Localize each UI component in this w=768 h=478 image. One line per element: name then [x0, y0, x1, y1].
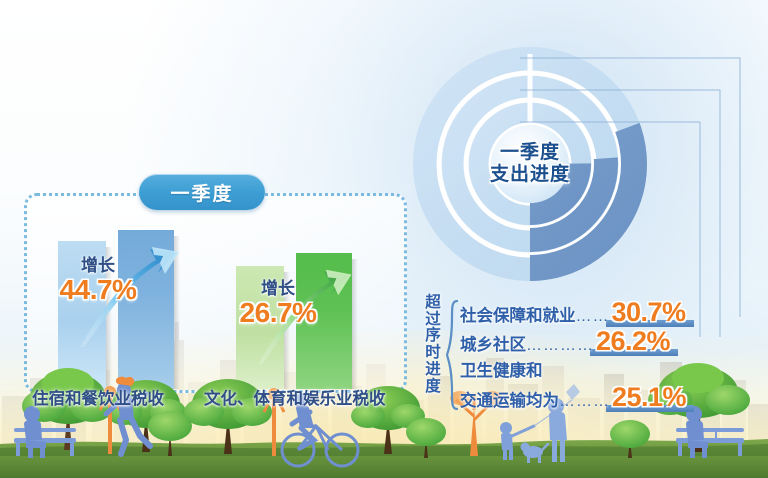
legend-row-label: 城乡社区 — [460, 331, 526, 355]
legend-row-label: 社会保障和就业 — [460, 302, 576, 326]
growth-word: 增长 — [224, 280, 332, 298]
quarter-badge: 一季度 — [139, 174, 265, 210]
legend-row-dots: ………… — [526, 337, 594, 355]
tree — [406, 418, 446, 458]
legend-row-value: 30.7% — [610, 297, 688, 328]
bar-caption-lodging: 住宿和餐饮业税收 — [32, 385, 164, 409]
growth-percent: 44.7% — [44, 275, 152, 304]
growth-label-green: 增长 26.7% — [224, 280, 332, 327]
vt-char-0: 超 — [420, 295, 446, 312]
legend-row: 交通运输均为 ……… 25.1% — [460, 382, 688, 413]
growth-word: 增长 — [44, 257, 152, 275]
bar-caption-culture: 文化、体育和娱乐业税收 — [204, 385, 386, 409]
legend-row-dots: …… — [576, 308, 610, 326]
growth-percent: 26.7% — [224, 298, 332, 327]
curly-brace-icon — [446, 299, 459, 411]
legend-row-twoline: 卫生健康和 — [460, 357, 543, 381]
leader-line-outer — [520, 58, 740, 317]
vt-char-1: 过 — [420, 312, 446, 329]
value-underline-bar — [590, 349, 678, 356]
vt-char-5: 度 — [420, 379, 446, 396]
legend-row-value: 25.1% — [610, 382, 688, 413]
legend-row: 社会保障和就业 …… 30.7% — [460, 297, 688, 328]
dog — [521, 443, 549, 464]
legend-row-value: 26.2% — [594, 326, 672, 357]
vt-char-3: 时 — [420, 345, 446, 362]
legend-row-label-line2: 交通运输均为 — [460, 387, 559, 411]
legend-row: 城乡社区 ………… 26.2% — [460, 326, 672, 357]
infographic-canvas: 一季度 增长 44.7% — [0, 0, 768, 478]
legend-row-dots: ……… — [559, 393, 610, 411]
vt-char-2: 序 — [420, 328, 446, 345]
tree — [148, 411, 192, 456]
legend-vertical-title: 超 过 序 时 进 度 — [420, 295, 446, 395]
value-underline-bar — [606, 405, 694, 412]
legend-group: 超 过 序 时 进 度 社会保障和就业 …… 30.7% 城乡社区 ………… 2… — [420, 295, 768, 420]
park-bench — [676, 428, 744, 456]
legend-row-label-line1: 卫生健康和 — [460, 357, 543, 381]
vt-char-4: 进 — [420, 362, 446, 379]
growth-label-blue: 增长 44.7% — [44, 257, 152, 304]
tree — [610, 420, 650, 458]
